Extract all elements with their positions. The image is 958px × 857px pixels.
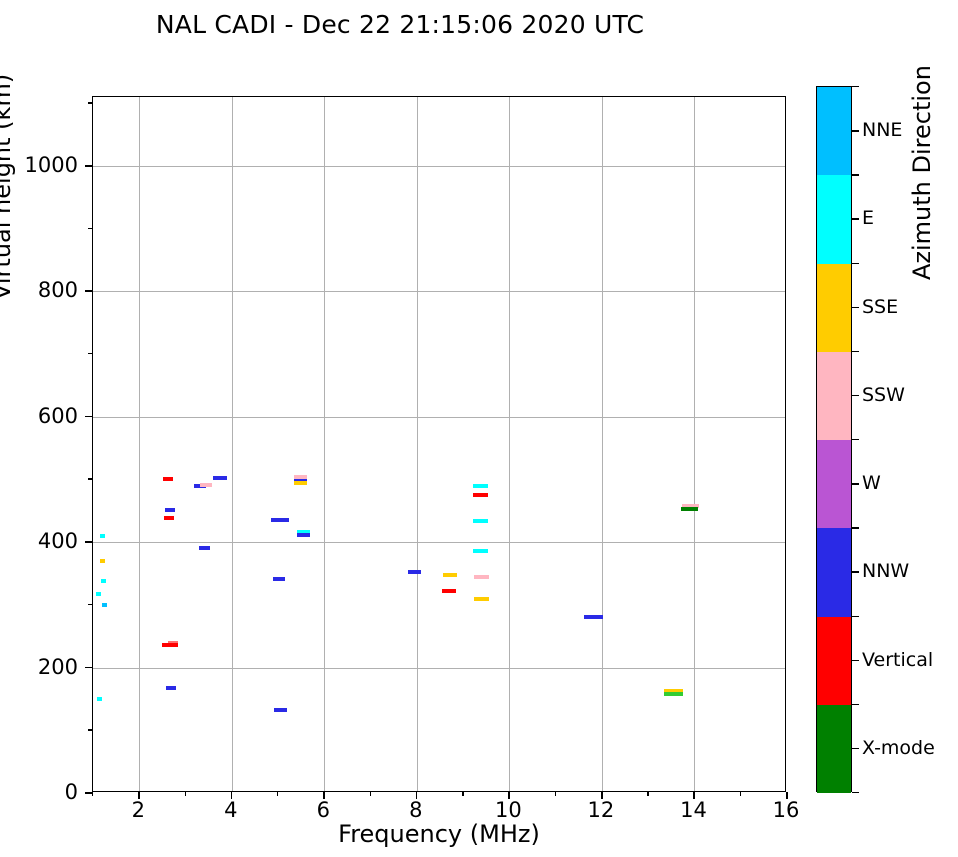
gridline-horizontal [93,542,785,543]
y-axis-tick [85,541,92,543]
gridline-vertical [417,97,418,791]
colorbar-boundary-tick [852,86,859,87]
colorbar-label-nnw: NNW [862,560,909,582]
x-axis-minor-tick [647,792,648,796]
data-point [473,493,488,497]
data-point [443,573,457,577]
y-axis-tick [85,792,92,794]
colorbar-boundary-tick [852,792,859,793]
y-axis-tick [85,165,92,167]
x-axis-tick-label: 16 [756,798,816,822]
gridline-vertical [232,97,233,791]
gridline-vertical [139,97,140,791]
data-point [408,570,421,574]
y-axis-tick-label: 0 [8,780,78,804]
data-point [100,534,105,538]
plot-area [92,96,786,792]
data-point [164,516,174,520]
gridline-vertical [509,97,510,791]
x-axis-tick-label: 12 [571,798,631,822]
colorbar-label-ssw: SSW [862,384,905,406]
page-title: NAL CADI - Dec 22 21:15:06 2020 UTC [0,10,800,39]
colorbar[interactable] [816,86,852,792]
data-point [97,697,102,701]
gridline-horizontal [93,166,785,167]
y-axis-minor-tick [88,478,92,479]
x-axis-minor-tick [185,792,186,796]
data-point [664,692,683,696]
colorbar-label-vertical: Vertical [862,649,933,671]
x-axis-tick-label: 10 [478,798,538,822]
x-axis-tick-label: 4 [201,798,261,822]
y-axis-tick-label: 400 [8,529,78,553]
y-axis-minor-tick [88,228,92,229]
y-axis-minor-tick [88,729,92,730]
x-axis-minor-tick [462,792,463,796]
x-axis-tick-label: 2 [108,798,168,822]
y-axis-minor-tick [88,604,92,605]
y-axis-tick-label: 200 [8,655,78,679]
colorbar-segment-nnw[interactable] [817,528,851,616]
colorbar-title: Azimuth Direction [908,65,936,280]
data-point [273,577,285,581]
x-axis-label: Frequency (MHz) [92,820,786,848]
colorbar-segment-sse[interactable] [817,264,851,352]
y-axis-tick [85,290,92,292]
data-point [474,575,489,579]
colorbar-tick [852,218,859,219]
y-axis-tick [85,416,92,418]
colorbar-segment-vertical[interactable] [817,617,851,705]
colorbar-boundary-tick [852,174,859,175]
data-point [100,559,105,563]
data-point [474,597,489,601]
gridline-horizontal [93,668,785,669]
data-point [165,508,175,512]
gridline-horizontal [93,291,785,292]
colorbar-tick [852,395,859,396]
colorbar-tick [852,307,859,308]
y-axis-tick [85,667,92,669]
colorbar-tick [852,483,859,484]
data-point [168,643,178,647]
gridline-vertical [602,97,603,791]
y-axis-minor-tick [88,353,92,354]
data-point [271,518,289,522]
colorbar-tick [852,130,859,131]
data-point [200,483,212,487]
y-axis-tick-label: 800 [8,278,78,302]
y-axis-label: Virtual height (km) [0,74,16,300]
data-point [102,603,107,607]
data-point [199,546,210,550]
colorbar-segment-x-mode[interactable] [817,705,851,793]
y-axis-tick-label: 1000 [8,153,78,177]
colorbar-boundary-tick [852,439,859,440]
colorbar-segment-ssw[interactable] [817,352,851,440]
gridline-vertical [694,97,695,791]
colorbar-label-x-mode: X-mode [862,737,935,759]
colorbar-boundary-tick [852,263,859,264]
colorbar-boundary-tick [852,704,859,705]
colorbar-tick [852,571,859,572]
data-point [681,507,698,511]
colorbar-tick [852,748,859,749]
data-point [473,519,488,523]
colorbar-boundary-tick [852,616,859,617]
colorbar-boundary-tick [852,351,859,352]
gridline-horizontal [93,417,785,418]
colorbar-label-e: E [862,207,874,229]
data-point [473,549,488,553]
colorbar-label-w: W [862,472,881,494]
colorbar-label-nne: NNE [862,119,902,141]
x-axis-minor-tick [277,792,278,796]
x-axis-minor-tick [370,792,371,796]
data-point [96,592,101,596]
colorbar-label-sse: SSE [862,296,898,318]
x-axis-minor-tick [92,792,93,796]
data-point [163,477,173,481]
data-point [442,589,456,593]
data-point [213,476,227,480]
data-point [584,615,603,619]
y-axis-tick-label: 600 [8,404,78,428]
x-axis-tick-label: 8 [386,798,446,822]
y-axis-minor-tick [88,102,92,103]
x-axis-tick-label: 6 [293,798,353,822]
data-point [101,579,106,583]
gridline-vertical [324,97,325,791]
data-point [166,686,176,690]
data-point [294,481,307,485]
x-axis-minor-tick [740,792,741,796]
x-axis-minor-tick [555,792,556,796]
x-axis-tick-label: 14 [663,798,723,822]
data-point [297,533,310,537]
colorbar-tick [852,660,859,661]
colorbar-boundary-tick [852,527,859,528]
data-point [473,484,488,488]
colorbar-segment-nne[interactable] [817,87,851,175]
colorbar-segment-w[interactable] [817,440,851,528]
data-point [274,708,287,712]
colorbar-segment-e[interactable] [817,175,851,263]
